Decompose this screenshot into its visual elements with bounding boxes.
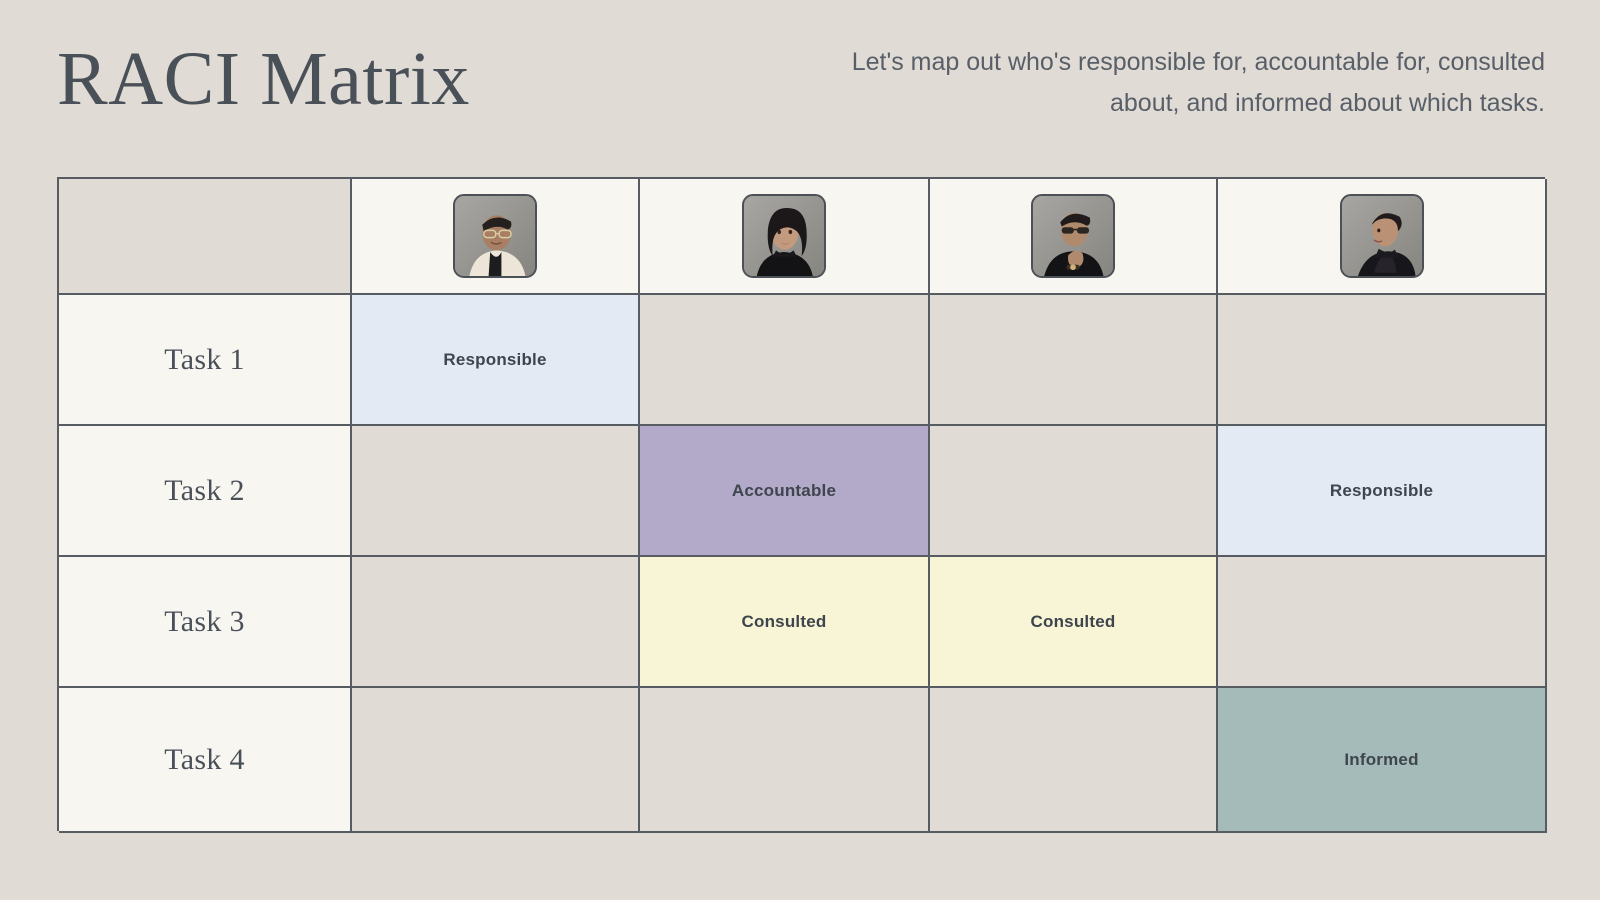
avatar-person-sunglasses-leather-icon <box>1031 194 1115 278</box>
column-header-person-3[interactable] <box>930 179 1218 295</box>
row-label: Task 3 <box>164 605 245 639</box>
matrix-cell-task-1-person-3[interactable] <box>930 295 1218 426</box>
matrix-cell-task-3-person-4[interactable] <box>1218 557 1547 688</box>
matrix-cell-task-1-person-4[interactable] <box>1218 295 1547 426</box>
page-header: RACI Matrix Let's map out who's responsi… <box>57 28 1545 148</box>
matrix-cell-task-3-person-2[interactable]: Consulted <box>640 557 930 688</box>
matrix-cell-task-1-person-1[interactable]: Responsible <box>352 295 640 426</box>
matrix-cell-task-2-person-3[interactable] <box>930 426 1218 557</box>
row-header-task-3[interactable]: Task 3 <box>59 557 352 688</box>
matrix-cell-task-2-person-1[interactable] <box>352 426 640 557</box>
matrix-cell-task-4-person-4[interactable]: Informed <box>1218 688 1547 833</box>
matrix-cell-task-1-person-2[interactable] <box>640 295 930 426</box>
avatar-person-long-hair-turtleneck-icon <box>742 194 826 278</box>
matrix-cell-task-4-person-3[interactable] <box>930 688 1218 833</box>
role-badge-label: Consulted <box>742 612 827 632</box>
row-label: Task 4 <box>164 743 245 777</box>
raci-matrix-table: Task 1ResponsibleTask 2AccountableRespon… <box>57 177 1545 831</box>
row-header-task-1[interactable]: Task 1 <box>59 295 352 426</box>
column-header-person-1[interactable] <box>352 179 640 295</box>
matrix-cell-task-2-person-4[interactable]: Responsible <box>1218 426 1547 557</box>
column-header-person-2[interactable] <box>640 179 930 295</box>
matrix-cell-task-4-person-1[interactable] <box>352 688 640 833</box>
page-title: RACI Matrix <box>57 28 470 123</box>
column-header-person-4[interactable] <box>1218 179 1547 295</box>
page-subtitle: Let's map out who's responsible for, acc… <box>845 28 1545 123</box>
role-badge-label: Informed <box>1344 750 1418 770</box>
matrix-cell-task-3-person-1[interactable] <box>352 557 640 688</box>
avatar-person-glasses-cream-coat-icon <box>453 194 537 278</box>
row-label: Task 1 <box>164 343 245 377</box>
matrix-cell-task-3-person-3[interactable]: Consulted <box>930 557 1218 688</box>
role-badge-label: Responsible <box>1330 481 1433 501</box>
row-header-task-2[interactable]: Task 2 <box>59 426 352 557</box>
matrix-corner-cell <box>59 179 352 295</box>
row-label: Task 2 <box>164 474 245 508</box>
avatar-person-short-hair-satin-icon <box>1340 194 1424 278</box>
role-badge-label: Accountable <box>732 481 836 501</box>
matrix-cell-task-4-person-2[interactable] <box>640 688 930 833</box>
role-badge-label: Consulted <box>1031 612 1116 632</box>
matrix-cell-task-2-person-2[interactable]: Accountable <box>640 426 930 557</box>
role-badge-label: Responsible <box>443 350 546 370</box>
row-header-task-4[interactable]: Task 4 <box>59 688 352 833</box>
